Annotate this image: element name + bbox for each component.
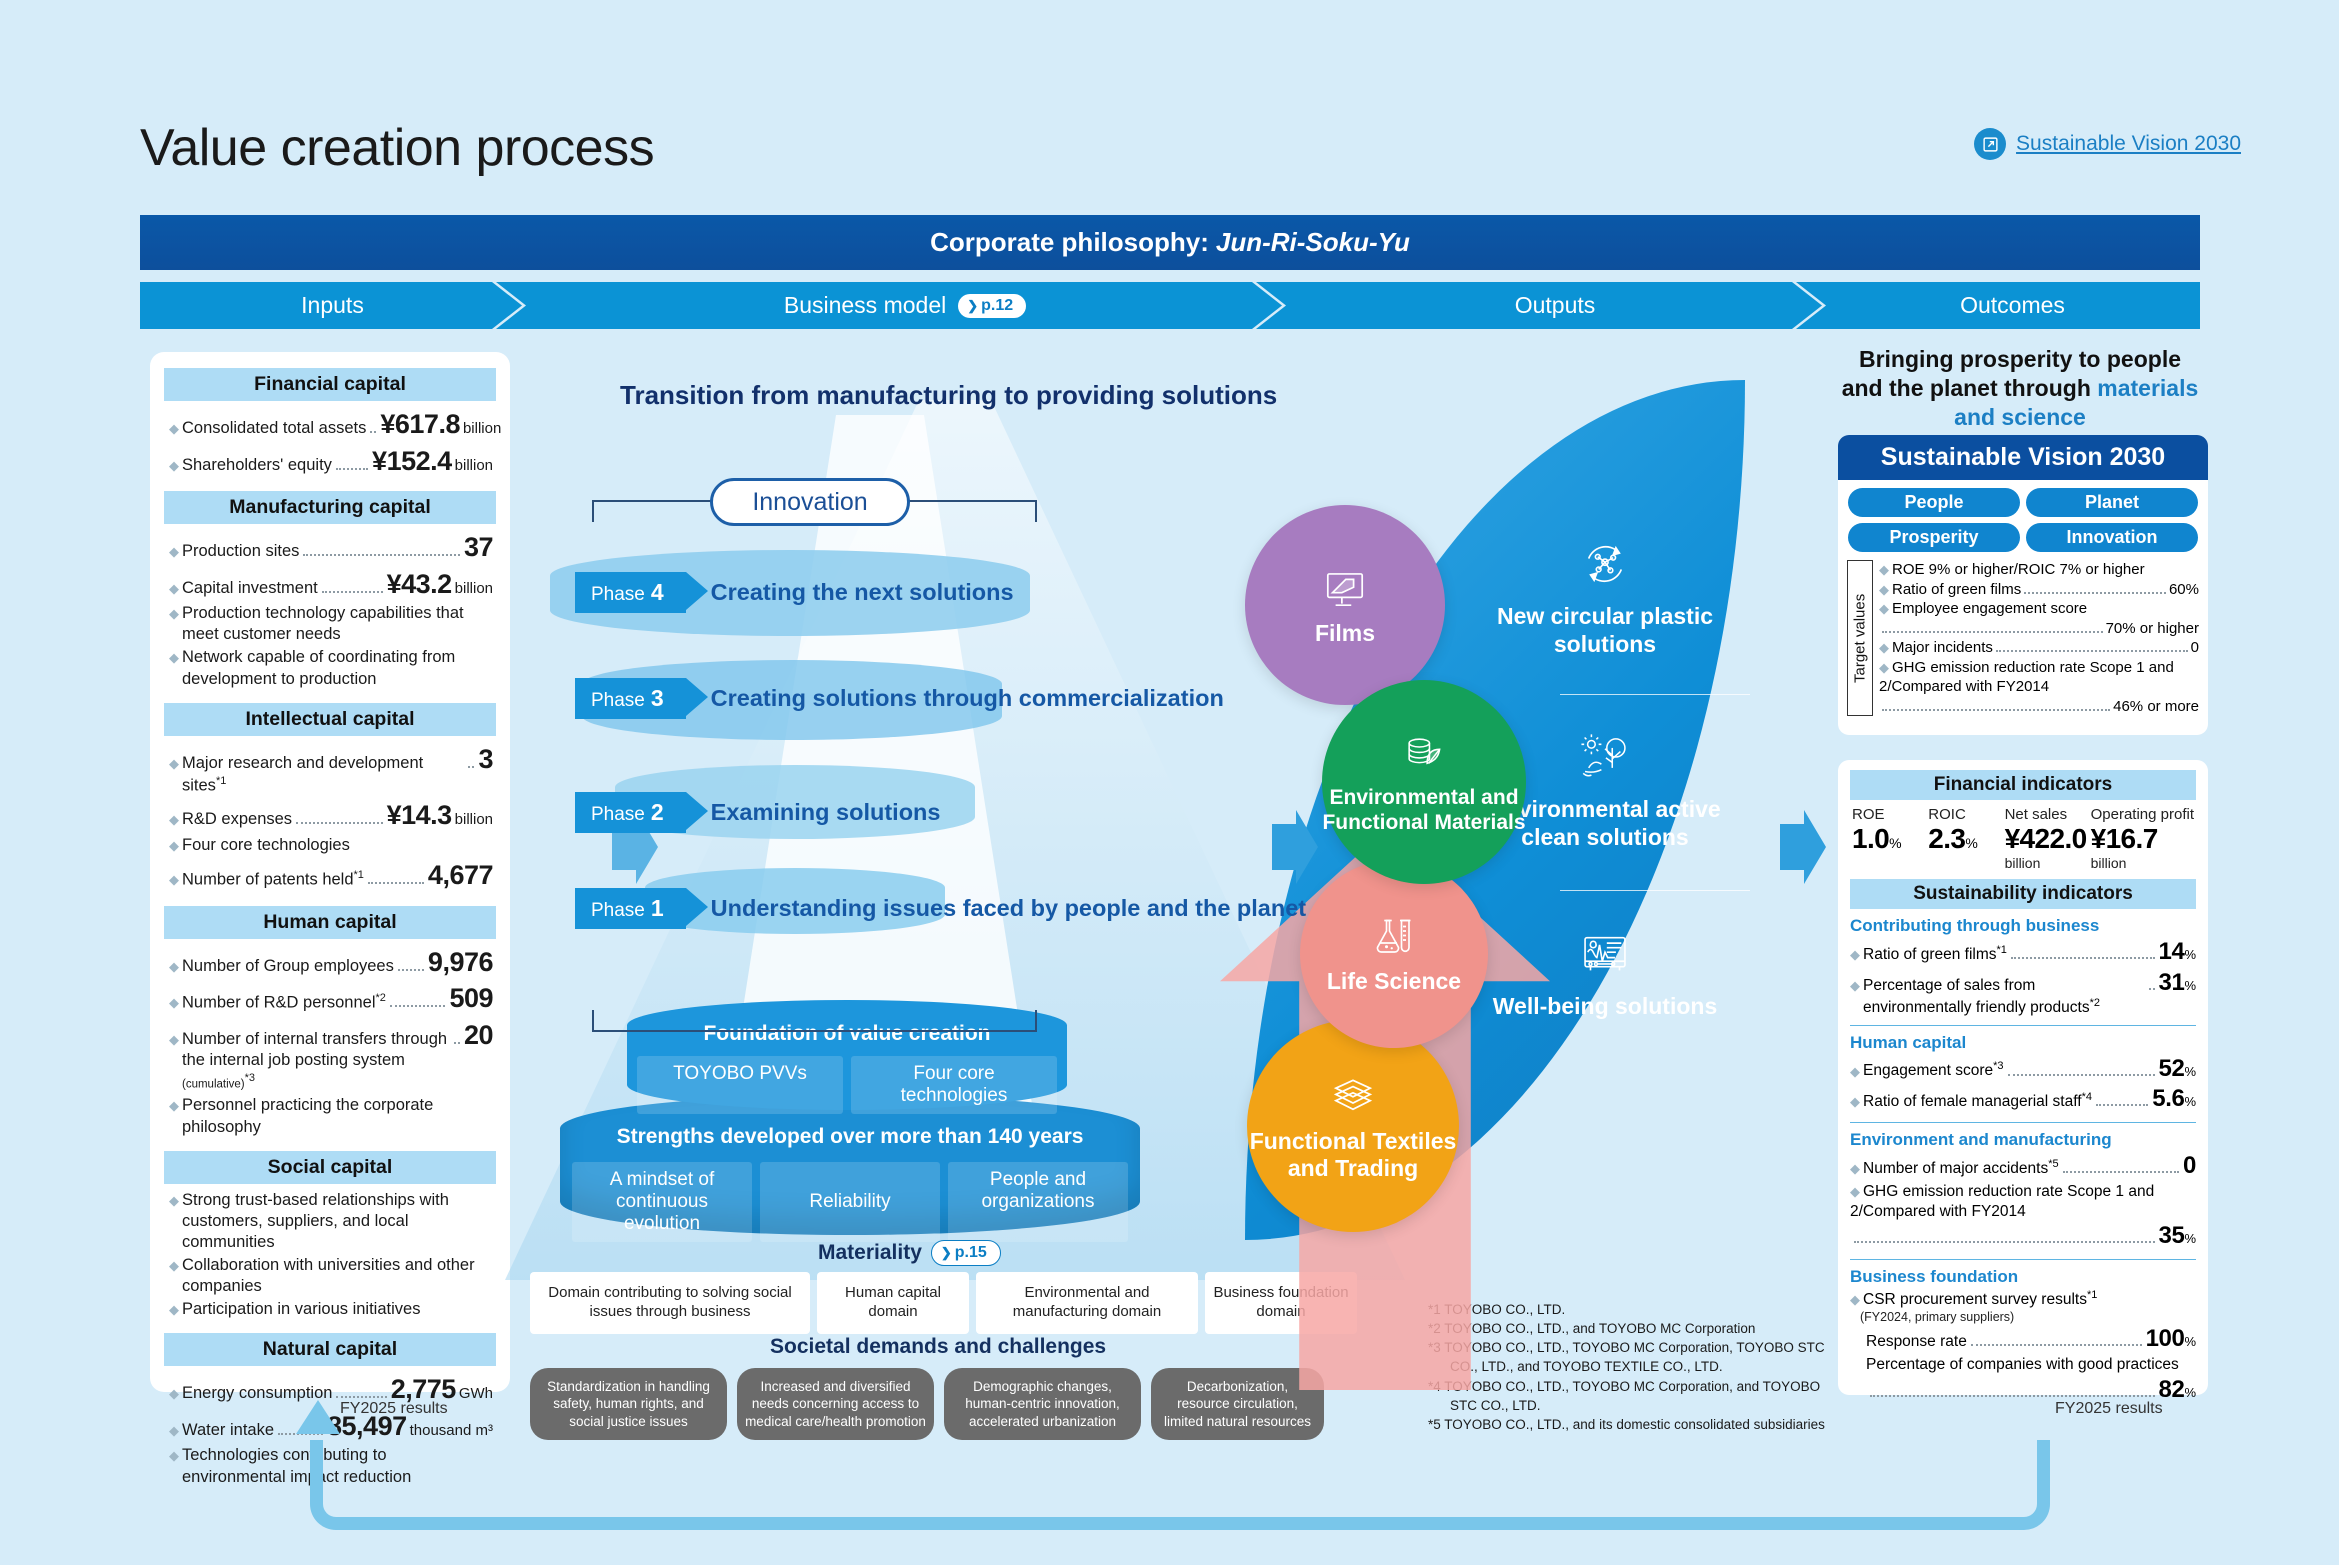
leader-dots [2063,1171,2179,1173]
leader-dots [336,1396,386,1398]
section-divider [1850,1122,2196,1123]
business-model-page-ref-label: p.12 [981,297,1013,315]
foundation-chip-0: TOYOBO PVVs [637,1056,843,1114]
capital-row-label: Personnel practicing the corporate philo… [182,1095,493,1137]
capital-row: ◆R&D expenses¥14.3billion [169,798,493,833]
leader-dots [1971,1344,2142,1346]
target-value-label: ROE 9% or higher/ROIC 7% or higher [1892,560,2145,580]
target-values-list: ◆ROE 9% or higher/ROIC 7% or higher◆Rati… [1879,560,2199,716]
target-value-row: ◆ROE 9% or higher/ROIC 7% or higher [1879,560,2199,580]
financial-indicator-label: ROIC [1928,806,2000,823]
capital-row: ◆Network capable of coordinating from de… [169,647,493,689]
capital-row-label: Collaboration with universities and othe… [182,1255,493,1297]
target-value-number: 0 [2191,638,2199,658]
capital-row: ◆Consolidated total assets¥617.8billion [169,407,493,442]
capital-row: ◆Production technology capabilities that… [169,603,493,645]
outcomes-headline: Bringing prosperity to people and the pl… [1830,345,2210,431]
business-segment-textiles-label: Functional Textiles and Trading [1247,1128,1459,1181]
capital-row: ◆Personnel practicing the corporate phil… [169,1095,493,1137]
stage-arrow-bar: Inputs Business model ❯ p.12 Outputs Out… [140,282,2200,329]
stage-business-model[interactable]: Business model ❯ p.12 [525,282,1285,329]
output-label-0: New circular plastic solutions [1497,603,1713,657]
bullet-icon: ◆ [1879,583,1889,596]
bullet-icon: ◆ [1879,601,1889,616]
target-value-row: ◆Employee engagement score70% or higher [1879,599,2199,638]
capital-group-title: Intellectual capital [164,703,496,736]
capital-row-label: Major research and development sites*1 [182,753,464,797]
vision-pill-people[interactable]: People [1848,488,2020,517]
business-segment-functional-textiles-trading[interactable]: Functional Textiles and Trading [1247,1020,1459,1232]
fabric-stack-icon [1328,1071,1378,1121]
inputs-capitals-card: Financial capital◆Consolidated total ass… [150,352,510,1392]
financial-indicator: ROIC2.3% [1928,806,2000,871]
bullet-icon: ◆ [1879,641,1889,654]
capital-row-value: ¥43.2 [387,567,452,602]
output-divider-0 [1560,694,1750,695]
outcomes-headline-line2-accent: materials [2097,375,2198,401]
sustainability-row-unit: % [2184,1094,2196,1111]
capital-row: ◆Number of Group employees9,976 [169,945,493,980]
leader-dots [1854,1241,2155,1243]
strengths-chip-1: Reliability [760,1162,940,1242]
phase-text-1: Understanding issues faced by people and… [711,894,1306,922]
sustainability-row: (FY2024, primary suppliers) [1860,1310,2196,1324]
bullet-icon: ◆ [169,607,179,620]
capital-row-value: ¥617.8 [380,407,460,442]
strengths-title: Strengths developed over more than 140 y… [560,1125,1140,1149]
materiality-page-ref-label: p.15 [955,1244,987,1262]
funnel-bracket-bottom [592,1010,1037,1032]
materiality-domain-0[interactable]: Domain contributing to solving social is… [530,1272,810,1334]
capital-row: ◆Production sites37 [169,530,493,565]
outcomes-headline-line1: Bringing prosperity to people [1830,345,2210,374]
materiality-domains-row: Domain contributing to solving social is… [530,1272,1357,1334]
phase-text-3: Creating solutions through commercializa… [711,684,1224,712]
sustainability-row-value: 100 [2146,1324,2185,1355]
footnotes-block: *1 TOYOBO CO., LTD.*2 TOYOBO CO., LTD., … [1428,1300,1825,1434]
target-value-number: 70% or higher [2106,619,2199,639]
bullet-icon: ◆ [169,1259,179,1272]
financial-indicators-grid: ROE1.0%ROIC2.3%Net sales¥422.0billionOpe… [1850,800,2196,879]
sustainability-row-label: CSR procurement survey results*1 [1863,1288,2097,1310]
sustainable-vision-pills: People Planet Prosperity Innovation [1838,480,2208,556]
phase-row-1[interactable]: Phase1 Understanding issues faced by peo… [575,888,1306,929]
sustainability-section-title: Environment and manufacturing [1850,1130,2196,1150]
capital-row-value: 9,976 [428,945,493,980]
capital-row-label: Shareholders' equity [182,455,332,476]
footnote-line: *2 TOYOBO CO., LTD., and TOYOBO MC Corpo… [1428,1319,1825,1338]
sustainability-row-label: Ratio of female managerial staff*4 [1863,1090,2092,1112]
value-creation-process-page: Value creation process Sustainable Visio… [0,0,2339,1565]
bullet-icon: ◆ [169,1303,179,1316]
leader-dots [468,766,474,768]
sustainable-vision-external-link[interactable]: Sustainable Vision 2030 [1974,128,2241,160]
strengths-chip-0: A mindset of continuous evolution [572,1162,752,1242]
stage-outcomes[interactable]: Outcomes [1825,282,2200,329]
sustainability-row-value: 52 [2159,1054,2185,1085]
capital-row-value: 37 [464,530,493,565]
capital-row-label: R&D expenses [182,809,292,830]
societal-demands-row: Standardization in handling safety, huma… [530,1368,1324,1440]
flask-testtube-icon [1370,913,1418,961]
societal-item-3: Decarbonization, resource circulation, l… [1151,1368,1324,1440]
capital-row-unit: billion [455,456,493,475]
materiality-label-group: Materiality ❯ p.15 [818,1240,1001,1266]
corporate-philosophy-banner: Corporate philosophy: Jun-Ri-Soku-Yu [140,215,2200,270]
capital-row-value: 509 [449,981,493,1016]
chevron-right-icon: ❯ [941,1245,952,1261]
stage-inputs-label: Inputs [301,292,364,319]
sustainability-row-label: Percentage of companies with good practi… [1866,1356,2179,1373]
monitor-film-icon [1320,563,1370,613]
bullet-icon: ◆ [169,1449,179,1462]
bullet-icon: ◆ [169,1424,179,1437]
vision-pill-planet[interactable]: Planet [2026,488,2198,517]
output-item-0: New circular plastic solutions [1460,535,1750,658]
capital-row-value: ¥152.4 [372,444,452,479]
footnote-line: *5 TOYOBO CO., LTD., and its domestic co… [1428,1415,1825,1434]
societal-item-1: Increased and diversified needs concerni… [737,1368,934,1440]
leader-dots [390,1005,446,1007]
business-segment-films-label: Films [1315,620,1375,646]
sustainability-row-label: Ratio of green films*1 [1863,943,2007,965]
stage-business-model-label: Business model [784,292,946,319]
page-title: Value creation process [140,118,654,178]
target-value-row: ◆GHG emission reduction rate Scope 1 and… [1879,658,2199,717]
capital-row-label: Number of Group employees [182,956,394,977]
capital-row-label: Four core technologies [182,835,350,856]
outcomes-headline-line3: and science [1830,403,2210,432]
societal-item-2: Demographic changes, human-centric innov… [944,1368,1141,1440]
strengths-chip-2: People and organizations [948,1162,1128,1242]
indicators-card: Financial indicators ROE1.0%ROIC2.3%Net … [1838,760,2208,1395]
capital-group-title: Manufacturing capital [164,491,496,524]
bullet-icon: ◆ [169,651,179,664]
stage-outputs[interactable]: Outputs [1285,282,1825,329]
capital-row-label: Consolidated total assets [182,418,366,439]
outcomes-fy-note: FY2025 results [2055,1400,2163,1418]
sustainability-row-unit: % [2184,1231,2196,1248]
stage-outcomes-label: Outcomes [1960,292,2065,319]
sustainability-section-title: Business foundation [1850,1267,2196,1287]
target-value-number: 46% or more [2113,697,2199,717]
sustainability-section-title: Contributing through business [1850,916,2196,936]
capital-row-unit: billion [463,419,501,438]
capital-row-value: ¥14.3 [387,798,452,833]
bullet-icon: ◆ [1850,979,1860,992]
materiality-domain-2[interactable]: Environmental and manufacturing domain [976,1272,1198,1334]
target-value-row: ◆Major incidents0 [1879,638,2199,658]
capital-row-label: Number of R&D personnel*2 [182,991,386,1014]
financial-indicators-title: Financial indicators [1850,770,2196,800]
sustainability-row: Response rate100% [1866,1324,2196,1355]
section-divider [1850,1025,2196,1026]
leader-dots [2096,1104,2148,1106]
feedback-loop-line [310,1440,2050,1530]
capital-group-list: ◆Consolidated total assets¥617.8billion◆… [164,407,496,478]
financial-indicator-label: ROE [1852,806,1924,823]
sustainability-row-unit: % [2184,1385,2196,1402]
capital-row: ◆Major research and development sites*13 [169,742,493,797]
materiality-page-ref[interactable]: ❯ p.15 [931,1240,1001,1266]
sustainability-row: ◆Percentage of sales from environmentall… [1850,968,2196,1018]
business-segment-env-functional-materials[interactable]: Environmental and Functional Materials [1322,680,1526,884]
capital-row-unit: thousand m³ [410,1421,493,1440]
stage-inputs[interactable]: Inputs [140,282,525,329]
philosophy-prefix: Corporate philosophy: [930,227,1209,258]
business-model-page-ref[interactable]: ❯ p.12 [958,294,1026,318]
sustainability-row-label: GHG emission reduction rate Scope 1 and … [1850,1183,2154,1220]
leader-dots [2011,957,2155,959]
societal-item-0: Standardization in handling safety, huma… [530,1368,727,1440]
phase-tag-1: Phase1 [575,888,686,929]
leader-dots [398,969,424,971]
bullet-icon: ◆ [1850,1162,1860,1175]
inputs-fy-note: FY2025 results [340,1400,448,1418]
sustainability-row-value: 14 [2159,937,2185,968]
sustainability-row-label: Number of major accidents*5 [1863,1157,2059,1179]
bullet-icon: ◆ [1850,1095,1860,1108]
capital-group-list: ◆Major research and development sites*13… [164,742,496,893]
sustainable-vision-card: Sustainable Vision 2030 People Planet Pr… [1838,435,2208,735]
capital-row-label: Strong trust-based relationships with cu… [182,1190,493,1253]
leader-dots [1996,650,2188,652]
sustainability-row-unit: % [2184,1064,2196,1081]
sustainability-row: ◆Number of major accidents*50 [1850,1151,2196,1182]
phase-row-2[interactable]: Phase2 Examining solutions [575,792,940,833]
bullet-icon: ◆ [169,545,179,558]
phase-tag-2: Phase2 [575,792,686,833]
flow-arrow-model-to-outputs [1272,810,1318,884]
sustainability-indicators-list: Contributing through business◆Ratio of g… [1850,916,2196,1405]
sustainable-vision-link-label: Sustainable Vision 2030 [2016,132,2241,156]
footnote-line: *4 TOYOBO CO., LTD., TOYOBO MC Corporati… [1428,1377,1825,1396]
sustainability-row: ◆GHG emission reduction rate Scope 1 and… [1850,1182,2196,1252]
financial-indicator-unit: billion [2091,855,2194,871]
capital-group-title: Natural capital [164,1333,496,1366]
sustainability-row-label: Engagement score*3 [1863,1059,2004,1081]
sustainability-row-unit: % [2184,947,2196,964]
capital-group-title: Financial capital [164,368,496,401]
capital-row-label: Capital investment [182,578,318,599]
capital-row-value: 4,677 [428,858,493,893]
phase-text-2: Examining solutions [711,798,941,826]
target-value-row: ◆Ratio of green films60% [1879,580,2199,600]
sustainability-row-value: 5.6 [2152,1084,2184,1115]
section-divider [1850,1259,2196,1260]
innovation-badge: Innovation [710,478,910,526]
business-segment-env-label: Environmental and Functional Materials [1322,786,1526,834]
capital-group-title: Human capital [164,906,496,939]
philosophy-name: Jun-Ri-Soku-Yu [1216,227,1410,258]
output-label-2: Well-being solutions [1493,993,1717,1019]
financial-indicator-value: 1.0% [1852,823,1924,855]
external-link-icon [1974,128,2006,160]
capital-row: ◆Strong trust-based relationships with c… [169,1190,493,1253]
capital-row: ◆Shareholders' equity¥152.4billion [169,444,493,479]
bullet-icon: ◆ [169,1099,179,1112]
sustainability-row-value: 35 [2159,1221,2185,1252]
bullet-icon: ◆ [169,1194,179,1207]
sustainability-row: ◆CSR procurement survey results*1 [1850,1288,2196,1310]
bullet-icon: ◆ [1850,1065,1860,1078]
financial-indicator-value: ¥422.0 [2005,823,2087,855]
footnote-line: *1 TOYOBO CO., LTD. [1428,1300,1825,1319]
leader-dots [303,554,460,556]
capital-row-value: 20 [464,1018,493,1053]
capital-group-list: ◆Number of Group employees9,976◆Number o… [164,945,496,1138]
target-value-number: 60% [2169,580,2199,600]
leader-dots [322,591,383,593]
sustainability-row-unit: % [2184,978,2196,995]
phase-text-4: Creating the next solutions [711,578,1014,606]
capital-row: ◆Four core technologies [169,835,493,856]
bullet-icon: ◆ [1850,1293,1860,1306]
capital-row: ◆Participation in various initiatives [169,1299,493,1320]
leader-dots [2008,1074,2155,1076]
leader-dots [370,431,376,433]
bullet-icon: ◆ [1850,1184,1860,1199]
target-value-label: Major incidents [1892,638,1993,658]
target-value-label: Ratio of green films [1892,580,2021,600]
business-segment-life-science[interactable]: Life Science [1300,860,1488,1048]
bullet-icon: ◆ [169,1387,179,1400]
financial-indicator-value: 2.3% [1928,823,2000,855]
vision-pill-prosperity[interactable]: Prosperity [1848,523,2020,552]
leader-dots [336,468,368,470]
societal-demands-label: Societal demands and challenges [770,1335,1106,1359]
feedback-loop-arrow-icon [296,1400,340,1434]
bullet-icon: ◆ [169,960,179,973]
bullet-icon: ◆ [169,459,179,472]
sustainability-row: ◆Ratio of green films*114% [1850,937,2196,968]
sustainability-section-title: Human capital [1850,1033,2196,1053]
foundation-chip-1: Four core technologies [851,1056,1057,1114]
target-value-label: GHG emission reduction rate Scope 1 and … [1879,659,2174,696]
chevron-right-icon: ❯ [967,298,978,314]
sustainability-row: ◆Engagement score*352% [1850,1054,2196,1085]
capital-row: ◆Collaboration with universities and oth… [169,1255,493,1297]
business-segment-life-science-label: Life Science [1327,968,1461,994]
phase-tag-4: Phase4 [575,572,686,613]
sustainability-row-label: Percentage of sales from environmentally… [1863,976,2145,1018]
sustainability-indicators-title: Sustainability indicators [1850,879,2196,909]
capital-row-unit: billion [455,810,493,829]
capital-row-value: 3 [478,742,493,777]
sustainability-row: ◆Ratio of female managerial staff*45.6% [1850,1084,2196,1115]
flow-arrow-outputs-to-outcomes [1780,810,1826,884]
capital-row: ◆Number of internal transfers through th… [169,1018,493,1094]
capital-group-list: ◆Production sites37◆Capital investment¥4… [164,530,496,690]
target-values-block: Target values ◆ROE 9% or higher/ROIC 7% … [1838,556,2208,724]
outcomes-headline-line2-plain: and the planet through [1842,375,2098,401]
footnote-line: STC CO., LTD. [1428,1396,1825,1415]
leader-dots [1882,631,2103,633]
materiality-label: Materiality [818,1241,922,1265]
capital-group-list: ◆Strong trust-based relationships with c… [164,1190,496,1321]
capital-row-label: Network capable of coordinating from dev… [182,647,493,689]
footnote-line: *3 TOYOBO CO., LTD., TOYOBO MC Corporati… [1428,1338,1825,1357]
target-value-label: Employee engagement score [1892,600,2087,617]
phase-row-3[interactable]: Phase3 Creating solutions through commer… [575,678,1224,719]
sustainability-row: Percentage of companies with good practi… [1866,1355,2196,1406]
capital-row: ◆Number of patents held*14,677 [169,858,493,893]
sustainability-row-label: Response rate [1866,1332,1967,1352]
capital-row-label: Production technology capabilities that … [182,603,493,645]
capital-row-label: Number of internal transfers through the… [182,1029,450,1094]
capital-row-unit: GWh [459,1384,493,1403]
phase-row-4[interactable]: Phase4 Creating the next solutions [575,572,1014,613]
footnote-line: CO., LTD., and TOYOBO TEXTILE CO., LTD. [1428,1357,1825,1376]
vision-pill-innovation[interactable]: Innovation [2026,523,2198,552]
target-values-label: Target values [1847,560,1873,716]
leader-dots [1870,1395,2155,1397]
bullet-icon: ◆ [1850,948,1860,961]
leader-dots [296,822,383,824]
financial-indicator: Operating profit¥16.7billion [2091,806,2194,871]
capital-row-label: Water intake [182,1420,274,1441]
bullet-icon: ◆ [169,1033,179,1046]
phase-tag-3: Phase3 [575,678,686,719]
bullet-icon: ◆ [1879,563,1889,576]
stage-outputs-label: Outputs [1515,292,1596,319]
leader-dots [368,882,424,884]
bullet-icon: ◆ [169,873,179,886]
bullet-icon: ◆ [1879,660,1889,675]
bullet-icon: ◆ [169,813,179,826]
recycle-molecule-icon [1460,535,1750,593]
capital-row: ◆Capital investment¥43.2billion [169,567,493,602]
financial-indicator-label: Net sales [2005,806,2087,823]
sustainable-vision-card-title: Sustainable Vision 2030 [1838,435,2208,480]
sustainability-row-value: 0 [2183,1151,2196,1182]
financial-indicator: Net sales¥422.0billion [2005,806,2087,871]
capital-row-label: Production sites [182,541,299,562]
bullet-icon: ◆ [169,422,179,435]
capital-group-title: Social capital [164,1151,496,1184]
bullet-icon: ◆ [169,757,179,770]
sustainability-row-value: 31 [2159,968,2185,999]
bullet-icon: ◆ [169,582,179,595]
capital-row-label: Number of patents held*1 [182,868,364,891]
leader-dots [454,1042,460,1044]
bullet-icon: ◆ [169,996,179,1009]
capital-row-unit: billion [455,579,493,598]
financial-indicator-label: Operating profit [2091,806,2194,823]
financial-indicator-unit: billion [2005,855,2087,871]
financial-indicator: ROE1.0% [1852,806,1924,871]
capital-row-label: Participation in various initiatives [182,1299,420,1320]
capital-row: ◆Number of R&D personnel*2509 [169,981,493,1016]
sustainability-row-unit: % [2184,1334,2196,1351]
financial-indicator-value: ¥16.7 [2091,823,2194,855]
materiality-domain-1[interactable]: Human capital domain [817,1272,969,1334]
coil-leaf-icon [1399,729,1449,779]
leader-dots [2024,592,2166,594]
output-divider-1 [1560,890,1750,891]
bullet-icon: ◆ [169,839,179,852]
leader-dots [1882,709,2110,711]
leader-dots [2149,988,2155,990]
business-segment-films[interactable]: Films [1245,505,1445,705]
